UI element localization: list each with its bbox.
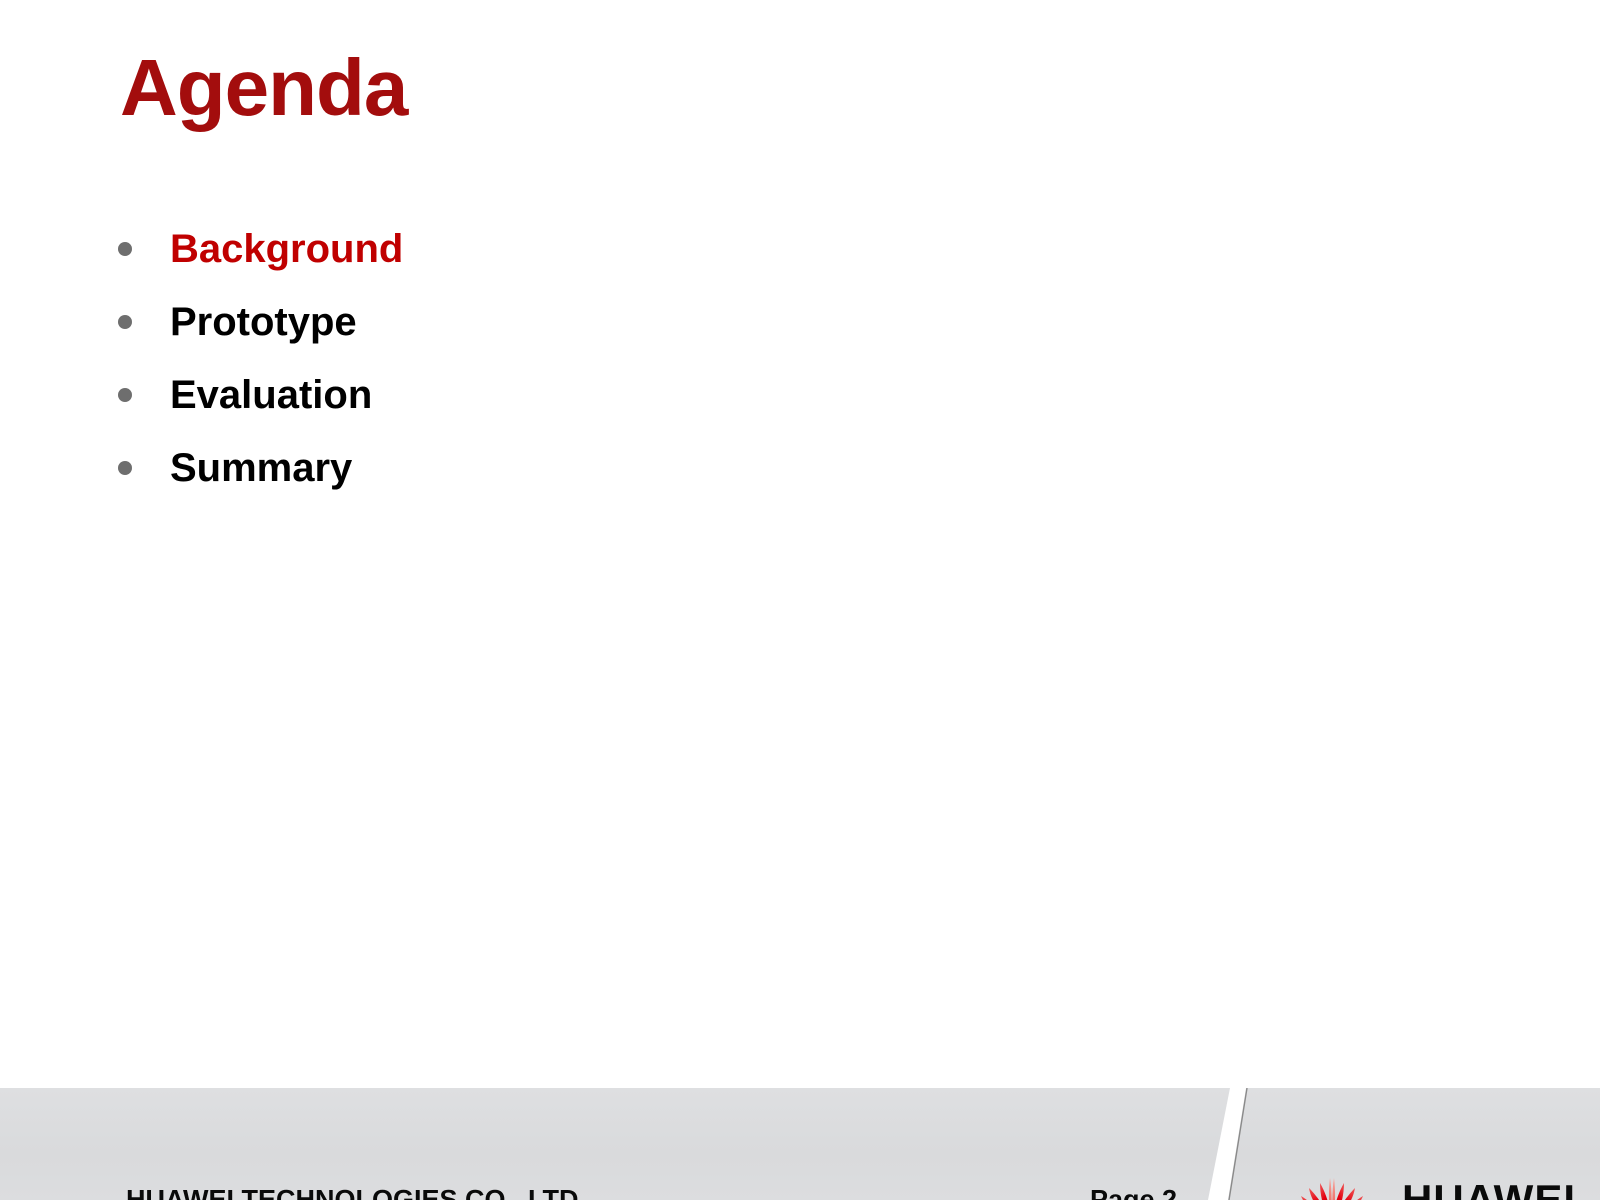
agenda-list: Background Prototype Evaluation Summary bbox=[118, 212, 1018, 504]
bullet-icon bbox=[118, 315, 132, 329]
list-item[interactable]: Background bbox=[118, 212, 1018, 285]
bullet-icon bbox=[118, 388, 132, 402]
slide-footer: HUAWEI TECHNOLOGIES CO., LTD. Page 2 bbox=[0, 1088, 1600, 1200]
page-number: Page 2 bbox=[1090, 1185, 1177, 1200]
bullet-icon bbox=[118, 461, 132, 475]
slide-canvas: Agenda Background Prototype Evaluation S… bbox=[0, 0, 1600, 1200]
list-item[interactable]: Evaluation bbox=[118, 358, 1018, 431]
huawei-wordmark: HUAWEI bbox=[1402, 1179, 1576, 1200]
bullet-icon bbox=[118, 242, 132, 256]
huawei-logo: HUAWEI bbox=[1300, 1172, 1576, 1200]
footer-company-name: HUAWEI TECHNOLOGIES CO., LTD. bbox=[126, 1185, 586, 1200]
agenda-item-label: Background bbox=[170, 229, 403, 269]
list-item[interactable]: Prototype bbox=[118, 285, 1018, 358]
agenda-item-label: Summary bbox=[170, 448, 352, 488]
agenda-item-label: Evaluation bbox=[170, 375, 372, 415]
agenda-item-label: Prototype bbox=[170, 302, 357, 342]
huawei-flower-icon bbox=[1300, 1172, 1364, 1200]
list-item[interactable]: Summary bbox=[118, 431, 1018, 504]
page-title: Agenda bbox=[120, 48, 407, 128]
